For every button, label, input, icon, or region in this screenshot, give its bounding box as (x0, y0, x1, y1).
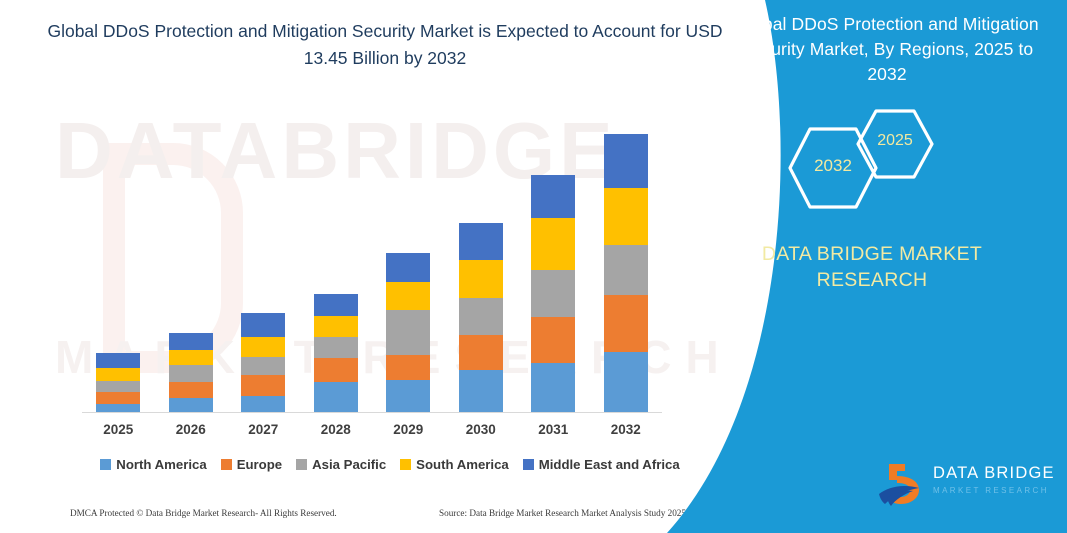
brand-title-line2: RESEARCH (672, 269, 1067, 292)
bar-2032 (604, 134, 648, 412)
segment-middle-east-and-africa-2029 (386, 253, 430, 282)
segment-europe-2025 (96, 392, 140, 404)
segment-north-america-2031 (531, 363, 575, 412)
bar-2026 (169, 333, 213, 412)
segment-north-america-2029 (386, 380, 430, 412)
bar-2030 (459, 223, 503, 412)
segment-south-america-2028 (314, 316, 358, 337)
footer: DMCA Protected © Data Bridge Market Rese… (70, 508, 690, 518)
data-bridge-logo-icon (875, 460, 927, 510)
x-axis-label-2025: 2025 (83, 422, 153, 437)
x-axis-label-2031: 2031 (518, 422, 588, 437)
segment-north-america-2026 (169, 398, 213, 412)
legend-swatch-icon (400, 459, 411, 470)
segment-south-america-2027 (241, 337, 285, 357)
legend-label: Asia Pacific (312, 457, 386, 472)
x-axis-label-2028: 2028 (301, 422, 371, 437)
chart-legend: North AmericaEuropeAsia PacificSouth Ame… (100, 457, 680, 472)
segment-middle-east-and-africa-2030 (459, 223, 503, 260)
segment-asia-pacific-2025 (96, 381, 140, 392)
segment-middle-east-and-africa-2027 (241, 313, 285, 337)
x-axis-labels: 20252026202720282029203020312032 (82, 422, 662, 442)
segment-south-america-2030 (459, 260, 503, 298)
segment-europe-2027 (241, 375, 285, 396)
segment-europe-2031 (531, 317, 575, 363)
segment-europe-2028 (314, 358, 358, 382)
segment-north-america-2030 (459, 370, 503, 412)
segment-asia-pacific-2028 (314, 337, 358, 358)
brand-title-line1: DATA BRIDGE MARKET (672, 243, 1067, 266)
segment-south-america-2026 (169, 350, 213, 365)
segment-north-america-2025 (96, 404, 140, 412)
page-title: Global DDoS Protection and Mitigation Se… (40, 18, 730, 72)
x-axis-label-2027: 2027 (228, 422, 298, 437)
hexagon-2025-label: 2025 (855, 132, 935, 150)
segment-asia-pacific-2031 (531, 270, 575, 317)
panel-title: Global DDoS Protection and Mitigation Se… (722, 12, 1052, 87)
segment-south-america-2029 (386, 282, 430, 310)
logo-title: DATA BRIDGE (933, 464, 1055, 483)
legend-label: Europe (237, 457, 282, 472)
legend-label: South America (416, 457, 509, 472)
segment-europe-2030 (459, 335, 503, 370)
hexagon-2025: 2025 (855, 108, 935, 180)
segment-north-america-2032 (604, 352, 648, 412)
segment-north-america-2028 (314, 382, 358, 412)
segment-asia-pacific-2030 (459, 298, 503, 335)
stacked-bar-chart (82, 100, 662, 413)
data-bridge-logo: DATA BRIDGE MARKET RESEARCH (875, 458, 1055, 514)
legend-item-asia-pacific[interactable]: Asia Pacific (296, 457, 386, 472)
segment-middle-east-and-africa-2026 (169, 333, 213, 350)
legend-label: Middle East and Africa (539, 457, 680, 472)
segment-south-america-2031 (531, 218, 575, 270)
segment-asia-pacific-2029 (386, 310, 430, 355)
segment-europe-2026 (169, 382, 213, 398)
segment-asia-pacific-2032 (604, 245, 648, 295)
bar-2028 (314, 294, 358, 412)
x-axis-label-2032: 2032 (591, 422, 661, 437)
legend-item-europe[interactable]: Europe (221, 457, 282, 472)
segment-asia-pacific-2027 (241, 357, 285, 375)
x-axis-label-2030: 2030 (446, 422, 516, 437)
segment-europe-2029 (386, 355, 430, 380)
legend-swatch-icon (100, 459, 111, 470)
hexagon-group: 2032 2025 (687, 108, 1067, 218)
legend-swatch-icon (221, 459, 232, 470)
segment-north-america-2027 (241, 396, 285, 412)
segment-middle-east-and-africa-2032 (604, 134, 648, 188)
bar-2025 (96, 353, 140, 412)
bar-2027 (241, 313, 285, 412)
segment-europe-2032 (604, 295, 648, 352)
legend-item-north-america[interactable]: North America (100, 457, 206, 472)
legend-item-middle-east-and-africa[interactable]: Middle East and Africa (523, 457, 680, 472)
segment-middle-east-and-africa-2031 (531, 175, 575, 218)
footer-source: Source: Data Bridge Market Research Mark… (439, 508, 686, 518)
segment-asia-pacific-2026 (169, 365, 213, 382)
infographic-root: DATABRIDGE MARKET RESEARCH Global DDoS P… (0, 0, 1067, 533)
logo-subtitle: MARKET RESEARCH (933, 486, 1049, 495)
legend-label: North America (116, 457, 206, 472)
segment-south-america-2032 (604, 188, 648, 245)
segment-middle-east-and-africa-2025 (96, 353, 140, 368)
legend-swatch-icon (296, 459, 307, 470)
legend-swatch-icon (523, 459, 534, 470)
legend-item-south-america[interactable]: South America (400, 457, 509, 472)
chart-baseline (82, 412, 662, 413)
right-panel: Global DDoS Protection and Mitigation Se… (667, 0, 1067, 533)
footer-copyright: DMCA Protected © Data Bridge Market Rese… (70, 508, 337, 518)
bar-2031 (531, 175, 575, 412)
x-axis-label-2029: 2029 (373, 422, 443, 437)
segment-middle-east-and-africa-2028 (314, 294, 358, 316)
x-axis-label-2026: 2026 (156, 422, 226, 437)
segment-south-america-2025 (96, 368, 140, 381)
bar-2029 (386, 253, 430, 412)
